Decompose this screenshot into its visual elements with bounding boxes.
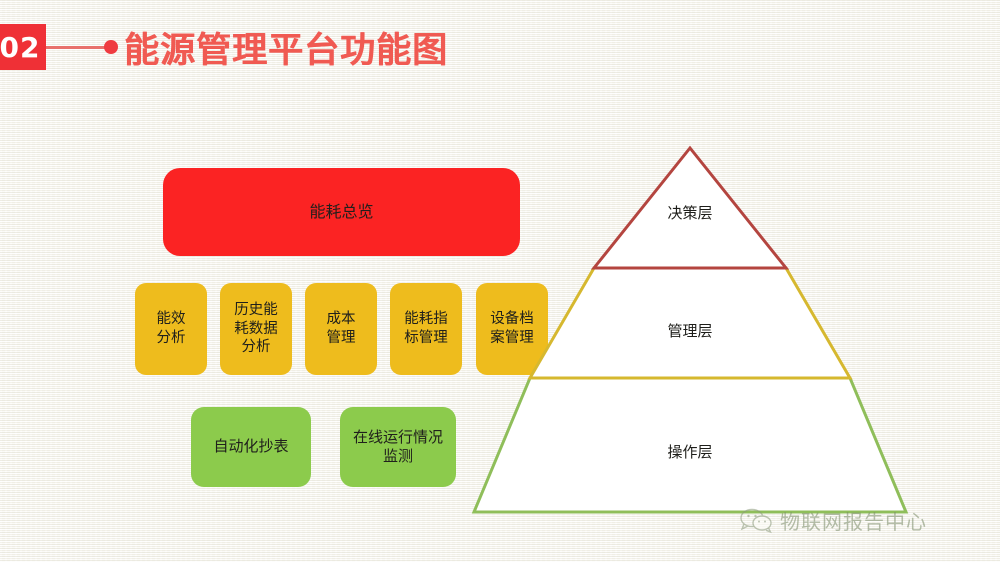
function-box-energy-efficiency-analysis[interactable]: 能效 分析 xyxy=(135,283,207,375)
label-line-2: 耗数据 xyxy=(234,321,278,337)
label-line-1: 成本 xyxy=(327,311,356,327)
function-box-label: 能效 分析 xyxy=(157,310,186,347)
label-line-1: 能耗指 xyxy=(404,311,448,327)
pyramid-level-decision[interactable] xyxy=(594,148,786,268)
pyramid-level-management[interactable] xyxy=(530,268,850,378)
label-line-1: 能效 xyxy=(157,311,186,327)
watermark: 物联网报告中心 xyxy=(740,506,927,535)
function-box-label: 能耗指 标管理 xyxy=(404,310,448,347)
label-line-1: 在线运行情况 xyxy=(353,428,443,446)
function-box-label: 历史能 耗数据 分析 xyxy=(234,301,278,357)
pyramid-level-operation[interactable] xyxy=(474,378,906,512)
pyramid-svg xyxy=(455,135,925,530)
label-line-2: 标管理 xyxy=(404,330,448,346)
page-title: 能源管理平台功能图 xyxy=(124,22,448,73)
function-box-online-operation-monitoring[interactable]: 在线运行情况 监测 xyxy=(340,407,456,487)
function-box-label: 能耗总览 xyxy=(309,202,373,222)
label-line-2: 管理 xyxy=(327,330,356,346)
function-box-label: 成本 管理 xyxy=(327,310,356,347)
header-connector-line xyxy=(46,46,108,49)
function-box-historical-energy-data-analysis[interactable]: 历史能 耗数据 分析 xyxy=(220,283,292,375)
header-connector-dot-icon xyxy=(104,40,118,54)
label-line-3: 分析 xyxy=(242,339,271,355)
label-line-2: 监测 xyxy=(383,447,413,465)
section-number-badge: 02 xyxy=(0,24,46,70)
function-box-label: 自动化抄表 xyxy=(213,437,288,456)
section-number-text: 02 xyxy=(0,31,40,64)
label-line-1: 历史能 xyxy=(234,302,278,318)
pyramid-diagram: 决策层 管理层 操作层 xyxy=(455,135,925,530)
function-box-energy-indicator-management[interactable]: 能耗指 标管理 xyxy=(390,283,462,375)
label-line-2: 分析 xyxy=(157,330,186,346)
function-box-cost-management[interactable]: 成本 管理 xyxy=(305,283,377,375)
function-box-automatic-meter-reading[interactable]: 自动化抄表 xyxy=(191,407,311,487)
wechat-icon xyxy=(740,508,774,534)
watermark-text: 物联网报告中心 xyxy=(780,506,927,535)
function-box-label: 在线运行情况 监测 xyxy=(353,428,443,466)
slide-canvas: 02 能源管理平台功能图 能耗总览 能效 分析 历史能 耗数据 分析 成本 管理… xyxy=(0,0,1000,562)
